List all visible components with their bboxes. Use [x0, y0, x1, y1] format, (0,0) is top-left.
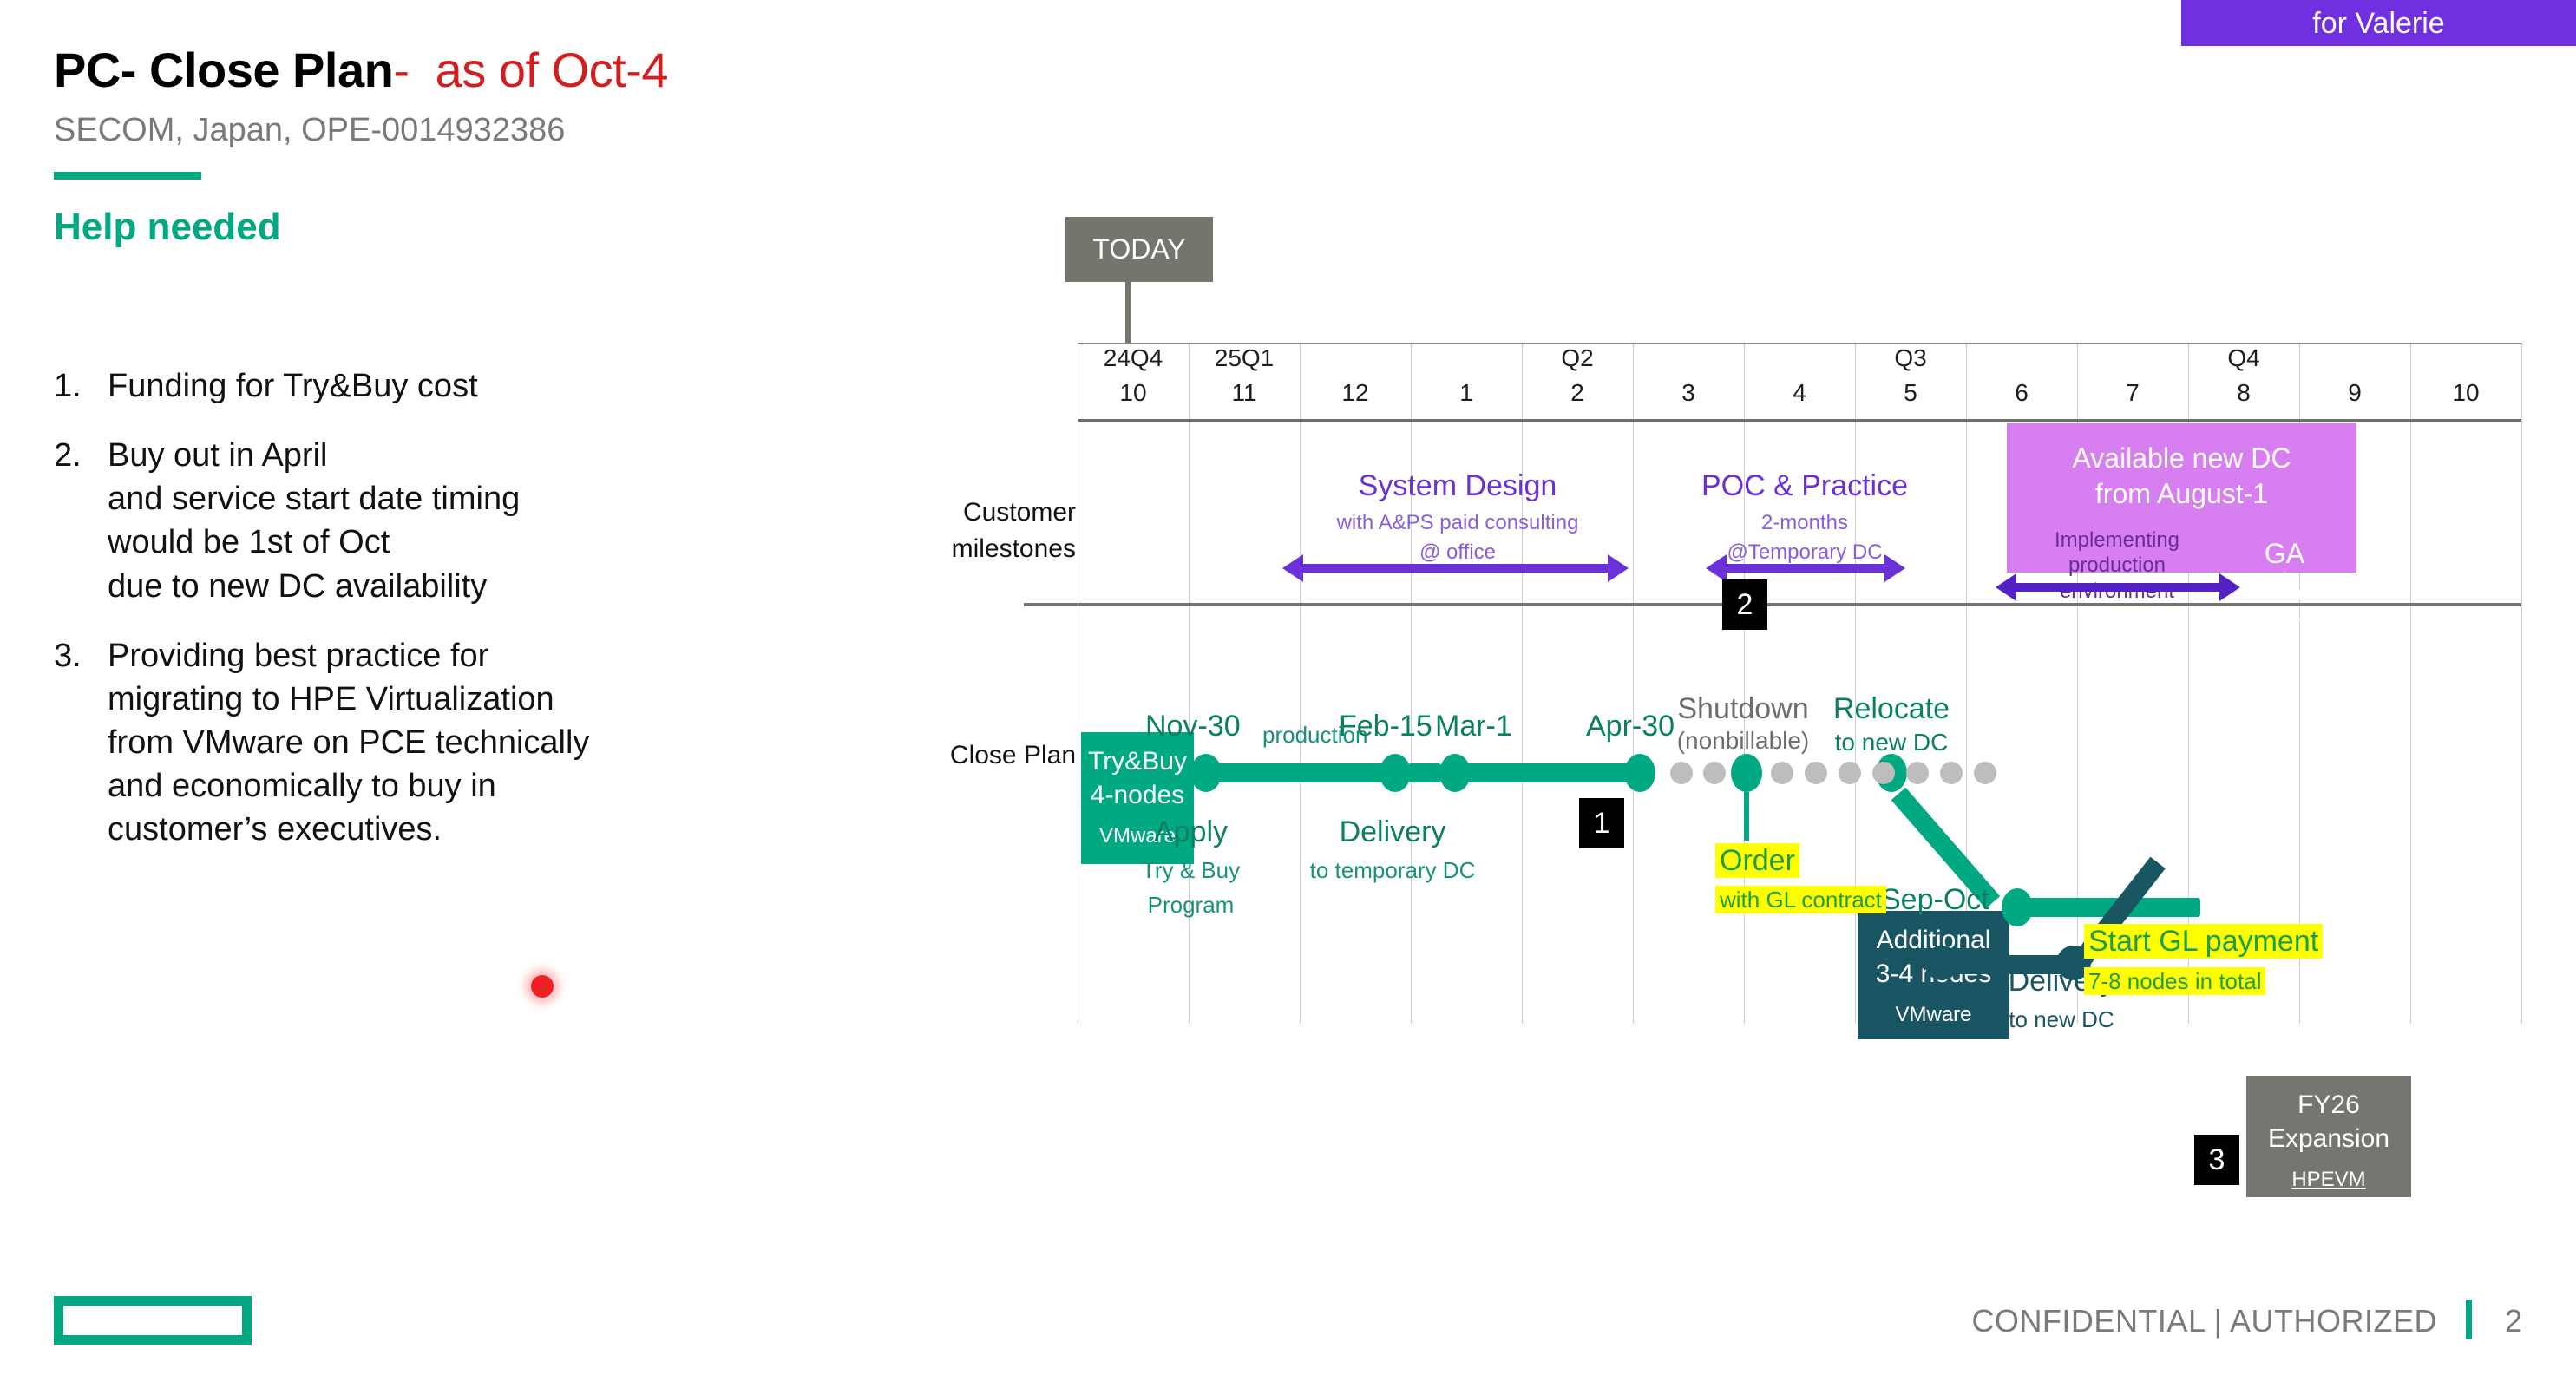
footer-separator [2466, 1300, 2472, 1339]
label-feb15: Feb-15 [1339, 710, 1432, 743]
label-delivery-temp: Delivery [1310, 815, 1475, 849]
month-label: 8 [2188, 381, 2299, 405]
month-label: 10 [1078, 381, 1189, 405]
row-label-close-plan: Close Plan [816, 737, 1076, 774]
month-cell: 7 [2077, 343, 2188, 419]
stem-order [1744, 792, 1749, 841]
node-apr30 [1624, 754, 1655, 792]
label-nodes-total-text: 7-8 nodes in total [2084, 967, 2265, 995]
list-item-text: Buy out in April and service start date … [108, 434, 520, 608]
title-block: PC- Close Plan- as of Oct-4 SECOM, Japan… [54, 42, 965, 249]
month-cell: Q48 [2188, 343, 2299, 419]
available-new-dc-subtext: Implementing production environment [2013, 527, 2221, 604]
label-shutdown-sub: (nonbillable) [1660, 727, 1826, 755]
help-needed-list: 1. Funding for Try&Buy cost 2. Buy out i… [54, 364, 887, 878]
gridline [1411, 343, 1412, 1024]
quarter-label [1633, 346, 1744, 374]
month-label: 10 [2410, 381, 2521, 405]
quarter-label: Q4 [2188, 346, 2299, 374]
month-label: 4 [1744, 381, 1855, 405]
label-nov30: Nov-30 [1145, 710, 1241, 743]
page-number: 2 [2505, 1303, 2522, 1339]
month-cell: 10 [2410, 343, 2521, 419]
row-label-customer-milestones: Customermilestones [816, 494, 1076, 567]
timeline-chart: TODAY 24Q41025Q111121Q2234Q3567Q48910 Av… [1024, 208, 2521, 1188]
dc-sub-line2: production [2068, 553, 2166, 577]
month-cell: Q35 [1855, 343, 1966, 419]
label-relocate: Relocate [1809, 692, 1974, 726]
tag-line2: Expansion [2268, 1124, 2389, 1153]
label-delivery-newdc-sub: to new DC [1983, 1006, 2140, 1033]
month-cell: 4 [1744, 343, 1855, 419]
quarter-label: Q2 [1522, 346, 1633, 374]
gridline [1855, 343, 1856, 1024]
gridline [1522, 343, 1523, 1024]
page-subtitle: SECOM, Japan, OPE-0014932386 [54, 112, 965, 149]
label-apply: Apply [1128, 815, 1254, 849]
label-apply-sub1: Try & Buy [1128, 857, 1254, 884]
green-rule-divider [54, 172, 201, 180]
node-nov30 [1190, 754, 1222, 792]
track-segment-3 [1467, 763, 1629, 782]
list-item: 2. Buy out in April and service start da… [54, 434, 887, 608]
track-dot [1974, 762, 1996, 784]
label-order-text: Order [1715, 843, 1799, 878]
banner-line2: for Valerie [2181, 5, 2576, 43]
list-item-text: Funding for Try&Buy cost [108, 364, 478, 408]
list-item-number: 3. [54, 634, 108, 852]
dc-title-line1: Available new DC [2073, 442, 2291, 474]
timeline-month-header: 24Q41025Q111121Q2234Q3567Q48910 [1078, 343, 2521, 419]
quarter-label [1966, 346, 2077, 374]
label-start-gl-text: Start GL payment [2084, 924, 2323, 959]
dc-title-line2: from August-1 [2095, 478, 2268, 509]
dc-implementation-arrow [2015, 583, 2221, 592]
label-mar1: Mar-1 [1435, 710, 1512, 743]
quarter-label [2299, 346, 2410, 374]
phase-title: System Design [1271, 468, 1644, 504]
phase-arrow-poc-practice [1725, 564, 1886, 573]
page-title: PC- Close Plan- as of Oct-4 [54, 42, 965, 98]
track-dot [1839, 762, 1861, 784]
label-relocate-sub: to new DC [1809, 729, 1974, 756]
track-dot [1670, 762, 1693, 784]
help-needed-heading: Help needed [54, 206, 965, 249]
hpe-logo [54, 1296, 252, 1345]
label-sepoct: Sep-Oct [1881, 883, 1989, 917]
month-label: 9 [2299, 381, 2410, 405]
timeline-month-baseline [1078, 419, 2521, 422]
row-divider [1024, 603, 2521, 606]
month-label: 5 [1855, 381, 1966, 405]
month-label: 1 [1411, 381, 1522, 405]
month-cell: 25Q111 [1189, 343, 1300, 419]
month-label: 12 [1300, 381, 1411, 405]
track-dot [1940, 762, 1963, 784]
track-dot [1872, 762, 1895, 784]
month-cell: 12 [1300, 343, 1411, 419]
track-segment-2 [1408, 763, 1441, 782]
track-dot [1771, 762, 1793, 784]
gridline [2521, 343, 2522, 1024]
phase-system-design: System Design with A&PS paid consulting … [1271, 468, 1644, 566]
month-label: 7 [2077, 381, 2188, 405]
phase-title: POC & Practice [1666, 468, 1943, 504]
track-dot [1703, 762, 1726, 784]
available-new-dc-title: Available new DC from August-1 [2007, 441, 2356, 512]
quarter-label [1411, 346, 1522, 374]
title-dash: - [393, 43, 409, 97]
badge-2: 2 [1722, 579, 1767, 630]
title-asof: as of Oct-4 [436, 43, 668, 97]
badge-1: 1 [1579, 798, 1624, 848]
ga-label: GA [2237, 538, 2332, 570]
node-shutdown [1731, 754, 1762, 792]
gridline [1189, 343, 1190, 1024]
tag-fy26-expansion: FY26 Expansion HPEVM [2246, 1076, 2411, 1197]
today-marker-label: TODAY [1065, 217, 1213, 282]
tag-line2: 4-nodes [1091, 781, 1184, 809]
slide-canvas: as of October-4 for Valerie PC- Close Pl… [0, 0, 2576, 1388]
node-feb15 [1380, 754, 1411, 792]
month-label: 11 [1189, 381, 1300, 405]
track-dot [1805, 762, 1827, 784]
label-order-sub-text: with GL contract [1715, 886, 1886, 913]
dc-sub-line1: Implementing [2055, 528, 2179, 552]
list-item: 1. Funding for Try&Buy cost [54, 364, 887, 408]
month-cell: 24Q410 [1078, 343, 1189, 419]
gridline [1744, 343, 1745, 1024]
track-dot [1906, 762, 1929, 784]
quarter-label: 25Q1 [1189, 346, 1300, 374]
month-cell: 1 [1411, 343, 1522, 419]
label-delivery-temp-sub: to temporary DC [1284, 857, 1501, 884]
month-label: 6 [1966, 381, 2077, 405]
label-order-sub: with GL contract [1715, 887, 1886, 913]
month-cell: 6 [1966, 343, 2077, 419]
list-item-text: Providing best practice for migrating to… [108, 634, 589, 852]
badge-3: 3 [2194, 1135, 2239, 1185]
today-marker-stem [1125, 282, 1131, 343]
month-label: 2 [1522, 381, 1633, 405]
track-segment-1 [1215, 763, 1383, 782]
tag-line1: Try&Buy [1088, 747, 1187, 776]
phase-sub2: @ office [1271, 539, 1644, 566]
gridline [1633, 343, 1634, 1024]
label-order: Order [1715, 844, 1799, 878]
mouse-cursor-indicator [531, 975, 554, 998]
tag-small: HPEVM [2246, 1166, 2411, 1193]
title-main: PC- Close Plan [54, 43, 393, 97]
gridline [2410, 343, 2411, 1024]
tag-line1: FY26 [2297, 1090, 2360, 1119]
month-cell: 9 [2299, 343, 2410, 419]
label-nodes-total: 7-8 nodes in total [2084, 968, 2265, 995]
confidential-notice: CONFIDENTIAL | AUTHORIZED [1971, 1303, 2437, 1339]
month-cell: Q22 [1522, 343, 1633, 419]
label-apply-sub2: Program [1128, 892, 1254, 919]
list-item-number: 2. [54, 434, 108, 608]
label-start-gl-payment: Start GL payment [2084, 925, 2323, 959]
quarter-label: 24Q4 [1078, 346, 1189, 374]
phase-sub1: 2-months [1666, 509, 1943, 537]
quarter-label [2410, 346, 2521, 374]
month-cell: 3 [1633, 343, 1744, 419]
quarter-label [2077, 346, 2188, 374]
phase-poc-practice: POC & Practice 2-months @Temporary DC [1666, 468, 1943, 566]
month-label: 3 [1633, 381, 1744, 405]
list-item: 3. Providing best practice for migrating… [54, 634, 887, 852]
gridline [1300, 343, 1301, 1024]
quarter-label: Q3 [1855, 346, 1966, 374]
gridline [1078, 343, 1078, 1024]
valerie-banner: as of October-4 for Valerie [2181, 0, 2576, 46]
label-shutdown: Shutdown [1660, 692, 1826, 726]
quarter-label [1744, 346, 1855, 374]
phase-sub1: with A&PS paid consulting [1271, 509, 1644, 537]
quarter-label [1300, 346, 1411, 374]
phase-arrow-system-design [1301, 564, 1609, 573]
list-item-number: 1. [54, 364, 108, 408]
node-mar1 [1439, 754, 1471, 792]
